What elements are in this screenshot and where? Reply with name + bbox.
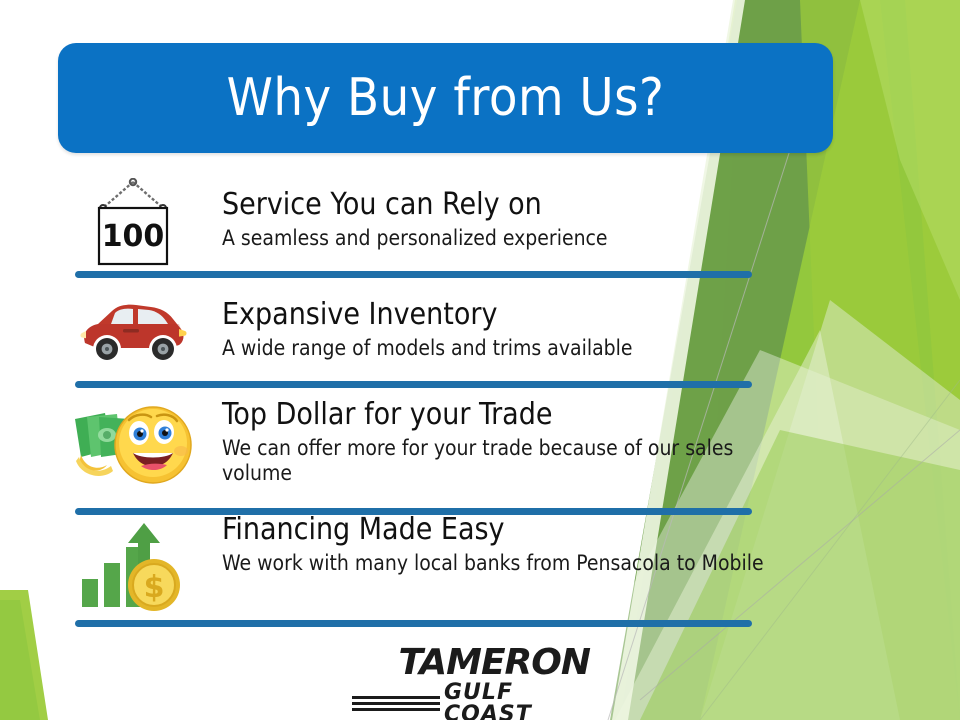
row-icon-growth-coin: $ bbox=[58, 522, 208, 612]
row-icon-car bbox=[58, 292, 208, 372]
row-text-1: Service You can Rely on A seamless and p… bbox=[222, 188, 782, 251]
slide-title-banner: Why Buy from Us? bbox=[58, 43, 833, 153]
coin-dollar-sign: $ bbox=[144, 570, 165, 605]
hanging-sign-value: 100 bbox=[102, 219, 165, 254]
logo-tagline: GULF COAST bbox=[444, 682, 592, 720]
row-subtitle-3: We can offer more for your trade because… bbox=[222, 436, 782, 485]
row-text-4: Financing Made Easy We work with many lo… bbox=[222, 513, 782, 576]
row-subtitle-1: A seamless and personalized experience bbox=[222, 226, 782, 251]
row-subtitle-4: We work with many local banks from Pensa… bbox=[222, 551, 782, 576]
row-title-2: Expansive Inventory bbox=[222, 298, 782, 331]
row-divider-4 bbox=[75, 620, 752, 627]
row-title-4: Financing Made Easy bbox=[222, 513, 782, 546]
row-icon-hanging-sign: 100 bbox=[58, 178, 208, 268]
logo-stripes-icon bbox=[352, 696, 440, 711]
logo-wordmark: TAMERON bbox=[352, 645, 592, 681]
smiley-with-cash-icon bbox=[69, 403, 197, 485]
row-title-3: Top Dollar for your Trade bbox=[222, 398, 782, 431]
red-car-icon bbox=[71, 293, 195, 371]
growth-chart-coin-icon: $ bbox=[78, 523, 188, 611]
row-text-2: Expansive Inventory A wide range of mode… bbox=[222, 298, 782, 361]
slide-root: Why Buy from Us? 100 Service You can Rel… bbox=[0, 0, 960, 720]
row-subtitle-2: A wide range of models and trims availab… bbox=[222, 336, 782, 361]
row-title-1: Service You can Rely on bbox=[222, 188, 782, 221]
row-icon-smiley-cash bbox=[58, 402, 208, 486]
row-divider-2 bbox=[75, 381, 752, 388]
row-divider-1 bbox=[75, 271, 752, 278]
row-text-3: Top Dollar for your Trade We can offer m… bbox=[222, 398, 782, 485]
tameron-gulf-coast-logo: TAMERON GULF COAST bbox=[352, 645, 592, 707]
page-title: Why Buy from Us? bbox=[227, 68, 665, 128]
hanging-sign-100-icon: 100 bbox=[87, 178, 179, 268]
